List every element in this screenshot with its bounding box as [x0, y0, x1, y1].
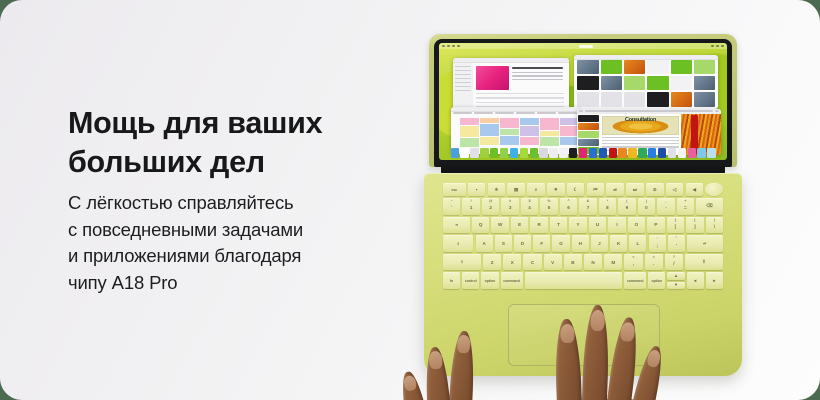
calendar-event[interactable]	[460, 118, 479, 126]
calendar-event[interactable]	[480, 137, 499, 144]
menu-item[interactable]	[457, 45, 460, 47]
file-thumbnail[interactable]	[577, 92, 598, 106]
dock-icon[interactable]	[668, 148, 676, 159]
sidebar-item	[455, 86, 471, 88]
file-grid[interactable]	[577, 60, 715, 107]
key-shift-right[interactable]: ⇧	[685, 254, 723, 271]
key-a[interactable]: A	[476, 235, 493, 252]
key-c[interactable]: C	[523, 254, 541, 271]
key-f5-dictation[interactable]: ⌗	[547, 183, 565, 196]
subcopy-line-2: с повседневными задачами	[68, 217, 388, 244]
dock-icon[interactable]	[510, 148, 518, 159]
key-u[interactable]: U	[589, 217, 606, 234]
dock-icon[interactable]	[549, 148, 557, 159]
key-3[interactable]: #3	[501, 198, 518, 215]
dock-icon[interactable]	[707, 148, 715, 159]
key-4[interactable]: $4	[521, 198, 538, 215]
promo-banner: Мощь для ваших больших дел С лёгкостью с…	[0, 0, 820, 400]
right-middle-finger	[581, 305, 611, 400]
headline-line-1: Мощь для ваших	[68, 104, 388, 143]
thumbnail[interactable]	[578, 115, 599, 122]
track-row[interactable]	[476, 97, 564, 98]
file-thumbnail[interactable]	[624, 92, 645, 106]
file-thumbnail[interactable]	[694, 76, 715, 90]
file-thumbnail[interactable]	[577, 76, 598, 90]
calendar-event[interactable]	[480, 118, 499, 124]
key-f9-fast-forward[interactable]: ⏭	[626, 183, 644, 196]
key-v[interactable]: V	[544, 254, 562, 271]
sidebar-item	[455, 78, 471, 80]
album-title	[512, 67, 563, 69]
fingernail	[403, 374, 418, 391]
album-meta	[512, 72, 563, 73]
calendar-event[interactable]	[540, 118, 559, 130]
menu-item[interactable]	[447, 45, 450, 47]
key-f12-volume-up[interactable]: ◀	[686, 183, 704, 196]
dock-icon[interactable]	[648, 148, 656, 159]
album-title-block	[512, 67, 563, 83]
menu-bar[interactable]	[439, 43, 727, 49]
dock-icon[interactable]	[638, 148, 646, 159]
keyboard-number-row: ~` !1 @2 #3 $4 %5 ^6 &7 *8 (9 )0 _- += ⌫	[443, 198, 723, 215]
key-2[interactable]: @2	[482, 198, 499, 215]
right-hand	[528, 303, 678, 400]
file-thumbnail[interactable]	[647, 92, 668, 106]
key-d[interactable]: D	[514, 235, 531, 252]
wifi-icon[interactable]	[711, 45, 714, 47]
dock-icon[interactable]	[520, 148, 528, 159]
headline-line-2: больших дел	[68, 143, 388, 182]
share-icon[interactable]	[715, 110, 719, 112]
key-r[interactable]: R	[530, 217, 547, 234]
key-return[interactable]: ↵	[687, 235, 723, 252]
key-i[interactable]: I	[608, 217, 625, 234]
key-shift-left[interactable]: ⇧	[443, 254, 481, 271]
calendar-event[interactable]	[500, 118, 519, 128]
key-e[interactable]: E	[511, 217, 528, 234]
key-fn[interactable]: fn	[443, 272, 460, 289]
key-command-left[interactable]: command	[501, 272, 523, 289]
subcopy-line-3: и приложениями благодаря	[68, 243, 388, 270]
key-f2-brightness-up[interactable]: ☀	[488, 183, 506, 196]
key-bracket-left[interactable]: {[	[667, 217, 684, 234]
dock-icon[interactable]	[589, 148, 597, 159]
calendar-day-headers	[453, 111, 577, 116]
calendar-event[interactable]	[560, 118, 579, 126]
key-f11-volume-down[interactable]: ◁	[666, 183, 684, 196]
album-meta	[512, 79, 563, 80]
file-thumbnail[interactable]	[624, 60, 645, 74]
calendar-event[interactable]	[520, 126, 539, 137]
calendar-event[interactable]	[500, 136, 519, 145]
left-hand	[406, 323, 524, 400]
sidebar-item	[455, 66, 471, 68]
key-f[interactable]: F	[533, 235, 550, 252]
apple-menu-icon[interactable]	[442, 45, 445, 47]
calendar-event[interactable]	[460, 126, 479, 137]
album-artwork	[476, 66, 508, 90]
file-thumbnail[interactable]	[671, 60, 692, 74]
dock-icon[interactable]	[539, 148, 547, 159]
key-g[interactable]: G	[552, 235, 569, 252]
window-files-app[interactable]	[574, 55, 718, 109]
key-arrow-left[interactable]: ◂	[687, 272, 704, 289]
track-row[interactable]	[476, 93, 564, 94]
text-line	[602, 140, 679, 141]
dock-icon[interactable]	[569, 148, 577, 159]
key-h[interactable]: H	[572, 235, 589, 252]
key-f8-play-pause[interactable]: ⏯	[606, 183, 624, 196]
dock[interactable]	[451, 148, 716, 159]
left-index-finger	[447, 330, 476, 400]
dock-icon[interactable]	[658, 148, 666, 159]
day-header	[537, 112, 556, 114]
laptop-lid: Consultation	[429, 34, 737, 167]
key-arrow-up[interactable]: ▴	[667, 272, 684, 279]
key-backslash[interactable]: |\	[706, 217, 723, 234]
page-title: Мощь для ваших больших дел	[68, 104, 388, 182]
key-t[interactable]: T	[550, 217, 567, 234]
dock-icon[interactable]	[460, 148, 468, 159]
file-thumbnail[interactable]	[694, 60, 715, 74]
dock-icon[interactable]	[530, 148, 538, 159]
consultation-banner: Consultation	[602, 116, 679, 136]
key-caps-lock[interactable]: ⇪	[443, 235, 473, 252]
keyboard-top-letter-row: ⇥ Q W E R T Y U I O P {[ }] |\	[443, 217, 723, 234]
fingernail	[457, 335, 471, 354]
calendar-event[interactable]	[480, 124, 499, 136]
key-quote[interactable]: "'	[668, 235, 685, 252]
key-7[interactable]: &7	[579, 198, 596, 215]
window-music-app[interactable]	[453, 58, 568, 114]
menu-bar-status-pill[interactable]	[579, 45, 593, 48]
sidebar-item	[455, 82, 471, 84]
calendar-event[interactable]	[540, 131, 559, 137]
file-thumbnail[interactable]	[671, 92, 692, 106]
touch-id-button[interactable]	[705, 183, 723, 196]
key-f7-rewind[interactable]: ⏮	[587, 183, 605, 196]
track-row[interactable]	[476, 102, 564, 103]
keyboard-bottom-letter-row: ⇧ Z X C V B N M <, >. ?/ ⇧	[443, 254, 723, 271]
key-6[interactable]: ^6	[560, 198, 577, 215]
thumbnail[interactable]	[578, 131, 599, 138]
subcopy: С лёгкостью справляйтесь с повседневными…	[68, 190, 388, 296]
text-line	[602, 143, 679, 144]
key-f1-brightness-down[interactable]: ▪	[468, 183, 486, 196]
key-q[interactable]: Q	[472, 217, 489, 234]
day-header	[453, 112, 472, 114]
key-z[interactable]: Z	[483, 254, 501, 271]
key-l[interactable]: L	[629, 235, 646, 252]
dock-icon[interactable]	[480, 148, 488, 159]
key-period[interactable]: >.	[645, 254, 663, 271]
key-comma[interactable]: <,	[624, 254, 642, 271]
day-header	[558, 112, 577, 114]
calendar-event[interactable]	[500, 129, 519, 135]
fingernail	[620, 321, 636, 342]
file-thumbnail[interactable]	[601, 92, 622, 106]
calendar-event[interactable]	[460, 138, 479, 147]
file-thumbnail[interactable]	[601, 60, 622, 74]
battery-icon[interactable]	[716, 45, 719, 47]
address-bar[interactable]	[585, 110, 713, 112]
key-p[interactable]: P	[647, 217, 664, 234]
fingernail	[429, 351, 443, 369]
dock-icon[interactable]	[599, 148, 607, 159]
sidebar-item	[455, 90, 471, 92]
dock-icon[interactable]	[688, 148, 696, 159]
key-slash[interactable]: ?/	[665, 254, 683, 271]
keyboard[interactable]: esc ▪ ☀ ▤ ⌕ ⌗ ☾ ⏮ ⏯ ⏭ ⊘ ◁ ◀ ~`	[443, 183, 723, 295]
menu-item[interactable]	[452, 45, 455, 47]
key-5[interactable]: %5	[540, 198, 557, 215]
key-s[interactable]: S	[495, 235, 512, 252]
subcopy-line-1: С лёгкостью справляйтесь	[68, 190, 388, 217]
key-tab[interactable]: ⇥	[443, 217, 470, 234]
dock-icon[interactable]	[678, 148, 686, 159]
subcopy-line-4: чипу A18 Pro	[68, 270, 388, 297]
dock-icon[interactable]	[559, 148, 567, 159]
fingernail	[560, 324, 575, 343]
key-esc[interactable]: esc	[443, 183, 466, 196]
file-thumbnail[interactable]	[647, 76, 668, 90]
clock[interactable]	[721, 45, 724, 47]
file-thumbnail[interactable]	[694, 92, 715, 106]
calendar-event[interactable]	[560, 126, 579, 136]
day-header	[516, 112, 535, 114]
sidebar-item	[455, 74, 471, 76]
dock-icon[interactable]	[579, 148, 587, 159]
fingernail	[590, 310, 605, 331]
screen-bezel: Consultation	[434, 39, 732, 167]
dock-icon[interactable]	[697, 148, 705, 159]
back-button[interactable]	[579, 110, 583, 112]
thumbnail[interactable]	[578, 139, 599, 146]
calendar-event[interactable]	[560, 137, 579, 144]
calendar-event[interactable]	[520, 118, 539, 125]
dock-icon[interactable]	[609, 148, 617, 159]
dock-icon[interactable]	[490, 148, 498, 159]
key-command-right[interactable]: command	[624, 272, 646, 289]
key-f10-mute[interactable]: ⊘	[646, 183, 664, 196]
key-w[interactable]: W	[491, 217, 508, 234]
dock-icon[interactable]	[500, 148, 508, 159]
key-k[interactable]: K	[610, 235, 627, 252]
laptop-device: Consultation	[418, 34, 748, 400]
right-index-finger	[554, 319, 583, 400]
keyboard-deck: esc ▪ ☀ ▤ ⌕ ⌗ ☾ ⏮ ⏯ ⏭ ⊘ ◁ ◀ ~`	[424, 173, 742, 376]
text-line	[602, 137, 679, 138]
key-space[interactable]	[525, 272, 623, 289]
key-x[interactable]: X	[503, 254, 521, 271]
file-thumbnail[interactable]	[624, 76, 645, 90]
dock-icon[interactable]	[451, 148, 459, 159]
keyboard-home-letter-row: ⇪ A S D F G H J K L :; "' ↵	[443, 235, 723, 252]
file-thumbnail[interactable]	[601, 76, 622, 90]
key-j[interactable]: J	[591, 235, 608, 252]
dock-icon[interactable]	[628, 148, 636, 159]
keyboard-function-row: esc ▪ ☀ ▤ ⌕ ⌗ ☾ ⏮ ⏯ ⏭ ⊘ ◁ ◀	[443, 183, 723, 196]
key-minus[interactable]: _-	[657, 198, 674, 215]
key-b[interactable]: B	[564, 254, 582, 271]
thumbnail[interactable]	[578, 123, 599, 130]
sidebar-item	[455, 70, 471, 72]
file-thumbnail[interactable]	[671, 76, 692, 90]
calendar-event[interactable]	[540, 137, 559, 146]
calendar-event[interactable]	[520, 137, 539, 145]
key-8[interactable]: *8	[599, 198, 616, 215]
key-bracket-right[interactable]: }]	[686, 217, 703, 234]
key-control[interactable]: control	[462, 272, 479, 289]
key-m[interactable]: M	[604, 254, 622, 271]
key-delete[interactable]: ⌫	[696, 198, 723, 215]
key-arrow-right[interactable]: ▸	[706, 272, 723, 289]
text-block: Мощь для ваших больших дел С лёгкостью с…	[68, 104, 388, 296]
key-option-left[interactable]: option	[481, 272, 498, 289]
key-arrow-down[interactable]: ▾	[667, 282, 684, 289]
consultation-headline: Consultation	[625, 117, 656, 123]
key-f3-mission-control[interactable]: ▤	[507, 183, 525, 196]
file-thumbnail[interactable]	[647, 60, 668, 74]
laptop-screen: Consultation	[439, 43, 727, 160]
album-meta	[512, 75, 563, 76]
key-0[interactable]: )0	[638, 198, 655, 215]
key-y[interactable]: Y	[569, 217, 586, 234]
key-o[interactable]: O	[628, 217, 645, 234]
keyboard-modifier-row: fn control option command command option…	[443, 272, 723, 289]
file-thumbnail[interactable]	[577, 60, 598, 74]
key-f6-do-not-disturb[interactable]: ☾	[567, 183, 585, 196]
key-equals[interactable]: +=	[677, 198, 694, 215]
dock-icon[interactable]	[618, 148, 626, 159]
arrow-keys-cluster: ▴ ▾	[667, 272, 684, 289]
key-n[interactable]: N	[584, 254, 602, 271]
key-semicolon[interactable]: :;	[649, 235, 666, 252]
key-backtick[interactable]: ~`	[443, 198, 460, 215]
dock-icon[interactable]	[470, 148, 478, 159]
key-option-right[interactable]: option	[648, 272, 665, 289]
key-f4-spotlight[interactable]: ⌕	[527, 183, 545, 196]
key-9[interactable]: (9	[618, 198, 635, 215]
day-header	[474, 112, 493, 114]
key-1[interactable]: !1	[462, 198, 479, 215]
day-header	[495, 112, 514, 114]
fingernail	[646, 349, 662, 368]
